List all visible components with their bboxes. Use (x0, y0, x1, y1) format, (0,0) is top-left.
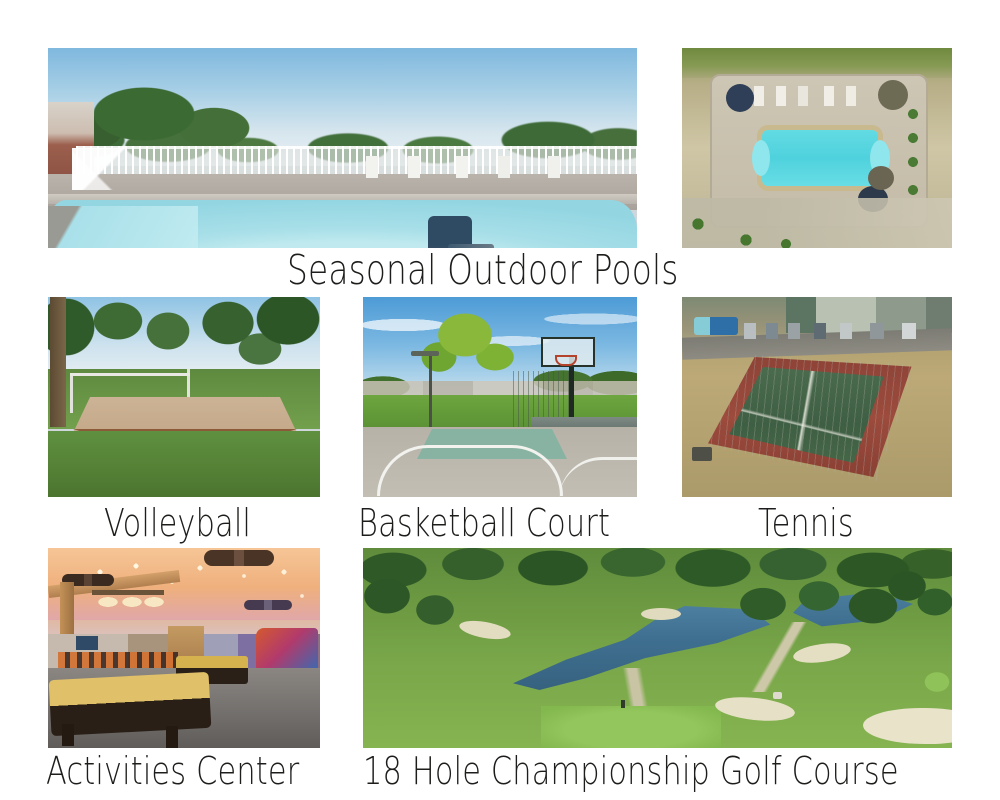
photo-basketball-court[interactable] (363, 297, 637, 497)
lounge-chairs (348, 156, 637, 178)
photo-outdoor-pool-ground-level[interactable] (48, 48, 637, 248)
sand-bunker (641, 608, 681, 620)
caption-activities-center: Activities Center (46, 752, 299, 790)
tree-cluster-right (883, 562, 952, 632)
umbrella-icon (726, 84, 754, 112)
photo-golf-course-aerial[interactable] (363, 548, 952, 748)
caption-seasonal-outdoor-pools: Seasonal Outdoor Pools (287, 250, 631, 291)
tree-cluster-left (363, 566, 473, 646)
tree-trunk (50, 297, 66, 427)
sun-loungers (754, 86, 880, 106)
caption-basketball-court: Basketball Court (358, 504, 610, 542)
putting-green (541, 706, 721, 748)
photo-tennis-court-aerial[interactable] (682, 297, 952, 497)
utility-shed (692, 447, 712, 461)
light-pole (429, 355, 432, 433)
foreground-grass (48, 431, 320, 497)
ceiling-fan-icon (244, 600, 292, 610)
caption-volleyball: Volleyball (104, 504, 251, 542)
photo-outdoor-pool-aerial[interactable] (682, 48, 952, 248)
golfer-figure (621, 700, 625, 708)
light-fixture (411, 351, 439, 356)
amenities-collage: Seasonal Outdoor Pools (0, 0, 1000, 800)
volleyball-net (70, 373, 190, 376)
stacked-chairs (72, 148, 202, 190)
parked-cars (744, 323, 934, 339)
pool-water (762, 130, 878, 186)
pool-water-left (48, 206, 198, 248)
net-post-left (70, 373, 73, 413)
putting-green-secondary (923, 668, 952, 698)
pendant-light-fixture (92, 590, 164, 610)
wall-television (76, 636, 98, 650)
ceiling-fan-icon (204, 550, 274, 566)
caption-tennis: Tennis (758, 504, 854, 542)
pool-table-leg (62, 724, 74, 746)
photo-activities-center-interior[interactable] (48, 548, 320, 748)
small-pool (694, 317, 738, 335)
basketball-hoop-icon (555, 355, 577, 366)
photo-sand-volleyball-court[interactable] (48, 297, 320, 497)
caption-golf-course: 18 Hole Championship Golf Course (363, 752, 899, 790)
umbrella-icon (868, 166, 894, 190)
pool-table-leg (166, 726, 178, 748)
golf-cart (773, 692, 782, 699)
three-point-arc (377, 445, 563, 496)
shrub-cluster (686, 208, 806, 248)
pool-water-step-left (752, 140, 770, 176)
